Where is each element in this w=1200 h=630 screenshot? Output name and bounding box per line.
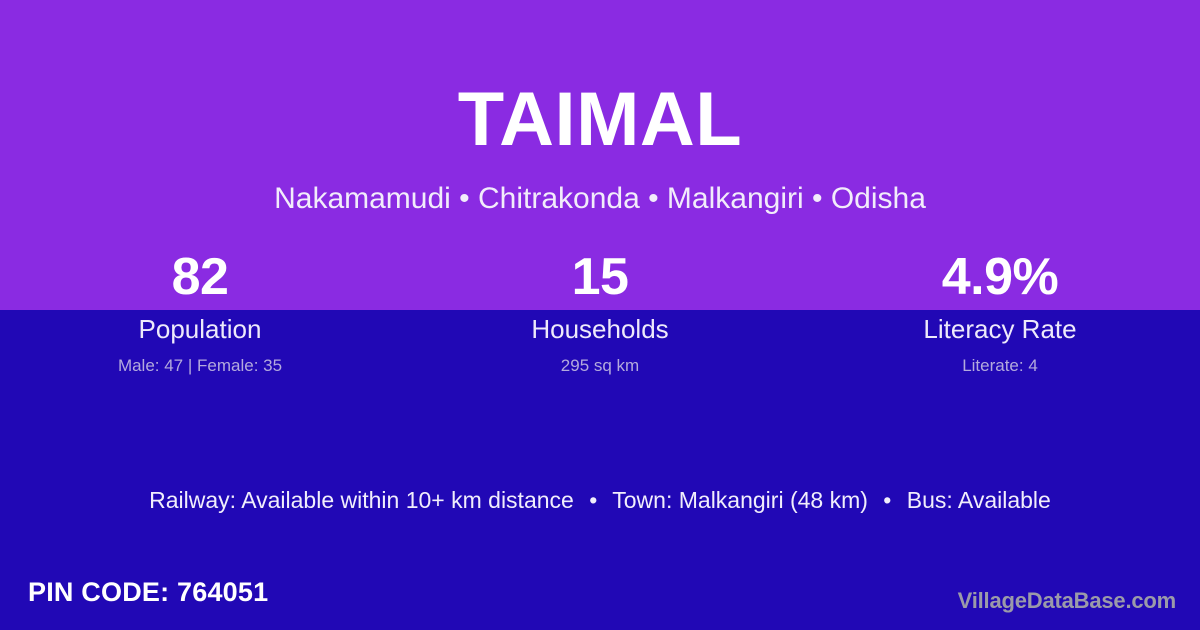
infra-item-bus: Bus: Available (907, 487, 1051, 513)
infrastructure-line: Railway: Available within 10+ km distanc… (0, 485, 1200, 515)
stat-detail-literacy-rate: Literate: 4 (800, 354, 1200, 378)
stat-population: 82 Population Male: 47 | Female: 35 (0, 246, 400, 378)
site-watermark: VillageDataBase.com (958, 587, 1176, 615)
village-info-card: TAIMAL Nakamamudi • Chitrakonda • Malkan… (0, 0, 1200, 630)
infra-separator-1: • (580, 485, 606, 515)
stat-detail-population: Male: 47 | Female: 35 (0, 354, 400, 378)
pin-code: PIN CODE: 764051 (28, 575, 268, 609)
page-title: TAIMAL (0, 82, 1200, 158)
stat-value-literacy-rate: 4.9% (800, 246, 1200, 308)
infra-separator-2: • (874, 485, 900, 515)
stat-label-households: Households (400, 312, 800, 346)
stat-value-households: 15 (400, 246, 800, 308)
stats-row: 82 Population Male: 47 | Female: 35 15 H… (0, 246, 1200, 378)
stat-label-population: Population (0, 312, 400, 346)
stat-detail-households: 295 sq km (400, 354, 800, 378)
stat-label-literacy-rate: Literacy Rate (800, 312, 1200, 346)
infra-item-town: Town: Malkangiri (48 km) (612, 487, 868, 513)
stat-value-population: 82 (0, 246, 400, 308)
breadcrumb: Nakamamudi • Chitrakonda • Malkangiri • … (0, 182, 1200, 217)
infra-item-railway: Railway: Available within 10+ km distanc… (149, 487, 574, 513)
stat-households: 15 Households 295 sq km (400, 246, 800, 378)
stat-literacy-rate: 4.9% Literacy Rate Literate: 4 (800, 246, 1200, 378)
